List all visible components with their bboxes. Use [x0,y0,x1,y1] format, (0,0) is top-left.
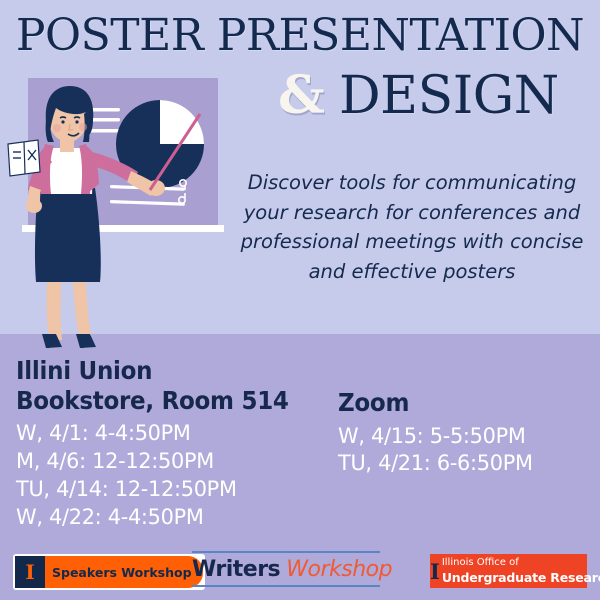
speakers-pill: I Speakers Workshop [15,556,203,588]
unit-line: Undergraduate Research [442,570,600,585]
illinois-block-i-icon: I [430,561,440,582]
session-time: W, 4/1: 4-4:50PM [16,420,326,448]
schedule-column-zoom: Zoom W, 4/15: 5-5:50PM TU, 4/21: 6-6:50P… [338,388,598,478]
session-time: W, 4/22: 4-4:50PM [16,504,326,532]
venue-line: Bookstore, Room 514 [16,386,310,416]
footer-logo-bar: I Speakers Workshop Writers Workshop I I… [0,552,600,594]
workshop-word: Workshop [286,557,392,582]
venue-heading: Illini Union Bookstore, Room 514 [16,356,310,415]
block-i-letter: I [25,562,34,582]
schedule-column-illini-union: Illini Union Bookstore, Room 514 W, 4/1:… [16,356,336,532]
title-line-2: & DESIGN [278,70,559,122]
session-time-list: W, 4/15: 5-5:50PM TU, 4/21: 6-6:50PM [338,423,598,479]
logo-speakers-workshop[interactable]: I Speakers Workshop [13,554,205,590]
ampersand-glyph: & [278,70,325,122]
venue-line: Zoom [338,388,577,418]
speakers-workshop-label: Speakers Workshop [45,556,203,588]
venue-line: Illini Union [16,356,310,386]
poster-title: POSTER PRESENTATION [0,14,600,58]
presenter-illustration [0,72,235,350]
office-line: Illinois Office of [442,557,600,570]
session-time: TU, 4/21: 6-6:50PM [338,450,590,478]
writers-workshop-wordmark: Writers Workshop [192,557,380,581]
session-time: W, 4/15: 5-5:50PM [338,423,590,451]
session-time-list: W, 4/1: 4-4:50PM M, 4/6: 12-12:50PM TU, … [16,420,336,532]
session-time: TU, 4/14: 12-12:50PM [16,476,326,504]
writers-word: Writers [192,557,280,582]
logo-writers-workshop[interactable]: Writers Workshop [192,551,380,587]
block-i-letter: I [430,561,440,582]
poster-canvas: POSTER PRESENTATION & DESIGN Discover to… [0,0,600,600]
illinois-block-i-icon: I [15,556,45,588]
title-design-word: DESIGN [339,70,559,122]
poster-description: Discover tools for communicating your re… [228,168,596,287]
undergrad-research-wordmark: Illinois Office of Undergraduate Researc… [440,557,600,585]
venue-heading: Zoom [338,388,577,418]
session-time: M, 4/6: 12-12:50PM [16,448,326,476]
title-line-1: POSTER PRESENTATION [0,14,600,58]
logo-undergraduate-research[interactable]: I Illinois Office of Undergraduate Resea… [430,554,587,588]
